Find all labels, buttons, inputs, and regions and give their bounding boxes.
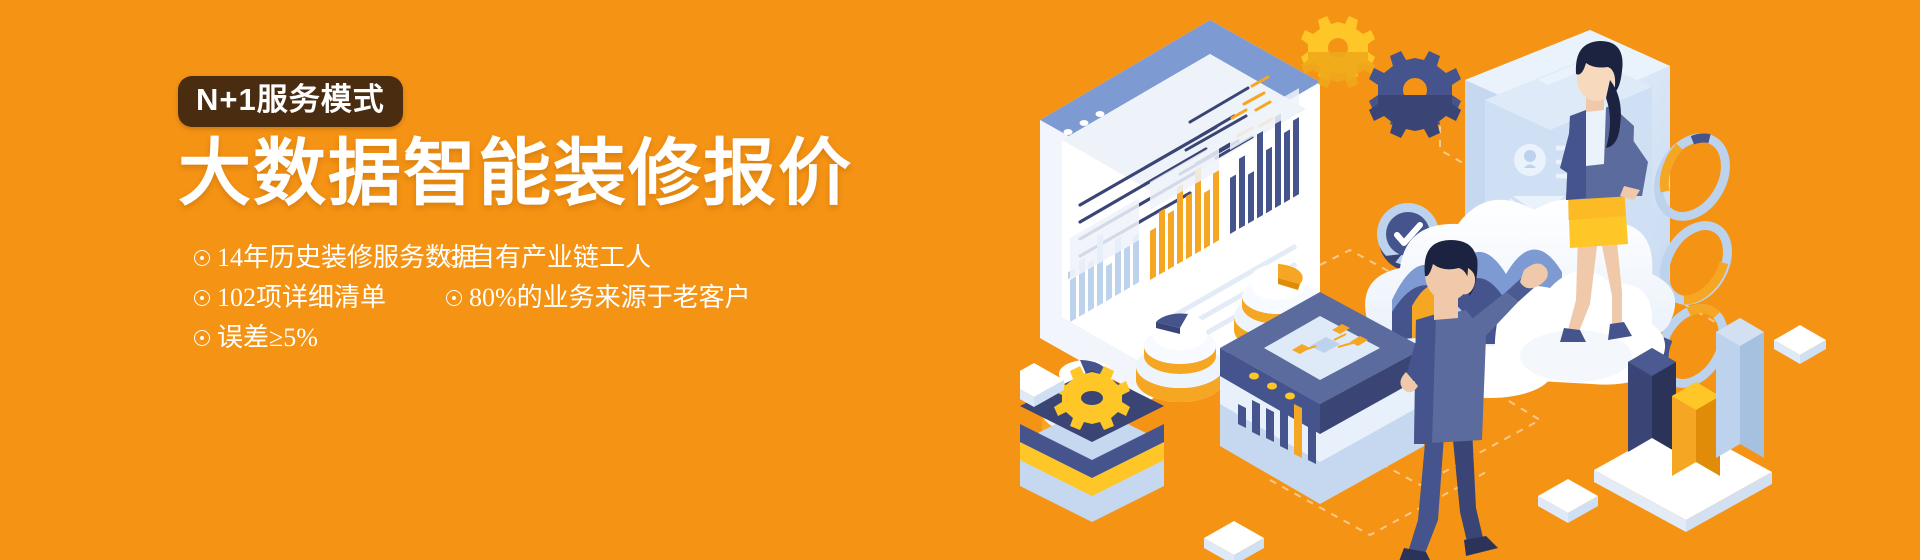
service-mode-badge: N+1服务模式 bbox=[178, 76, 403, 127]
bullet-label: 102项详细清单 bbox=[217, 285, 386, 311]
bullet-marker-icon bbox=[194, 250, 210, 266]
bullet-item: 误差≥5% bbox=[194, 318, 477, 358]
banner-text-block: N+1服务模式 大数据智能装修报价 14年历史装修服务数据 102项详细清单 误… bbox=[178, 76, 878, 238]
gear-navy-icon bbox=[1369, 51, 1461, 138]
gear-orange-icon bbox=[1301, 16, 1375, 88]
bullet-item: 14年历史装修服务数据 bbox=[194, 238, 477, 278]
bullet-label: 14年历史装修服务数据 bbox=[217, 245, 477, 271]
banner-headline: 大数据智能装修报价 bbox=[178, 136, 878, 213]
big-data-isometric-illustration bbox=[1020, 0, 1920, 560]
floating-tile bbox=[1538, 479, 1598, 523]
server-stack-pie-bottom bbox=[1251, 264, 1305, 292]
bullet-marker-icon bbox=[446, 250, 462, 266]
promo-banner: N+1服务模式 大数据智能装修报价 14年历史装修服务数据 102项详细清单 误… bbox=[0, 0, 1920, 560]
bullet-marker-icon bbox=[194, 330, 210, 346]
bullet-item: 自有产业链工人 bbox=[446, 238, 751, 278]
bullet-marker-icon bbox=[446, 290, 462, 306]
floating-tile bbox=[1774, 325, 1826, 364]
bullet-label: 误差≥5% bbox=[217, 325, 318, 351]
bullet-item: 102项详细清单 bbox=[194, 278, 477, 318]
bullet-item: 80%的业务来源于老客户 bbox=[446, 278, 751, 318]
bullet-column-left: 14年历史装修服务数据 102项详细清单 误差≥5% bbox=[194, 238, 477, 358]
bar-item-1 bbox=[1628, 348, 1676, 452]
bullet-label: 80%的业务来源于老客户 bbox=[469, 285, 751, 311]
floating-tile bbox=[1204, 521, 1264, 560]
bullet-label: 自有产业链工人 bbox=[469, 245, 651, 271]
bar-item-2 bbox=[1672, 382, 1720, 476]
bullet-marker-icon bbox=[194, 290, 210, 306]
bar-item-3 bbox=[1716, 318, 1764, 458]
bullet-column-right: 自有产业链工人 80%的业务来源于老客户 bbox=[446, 238, 751, 318]
